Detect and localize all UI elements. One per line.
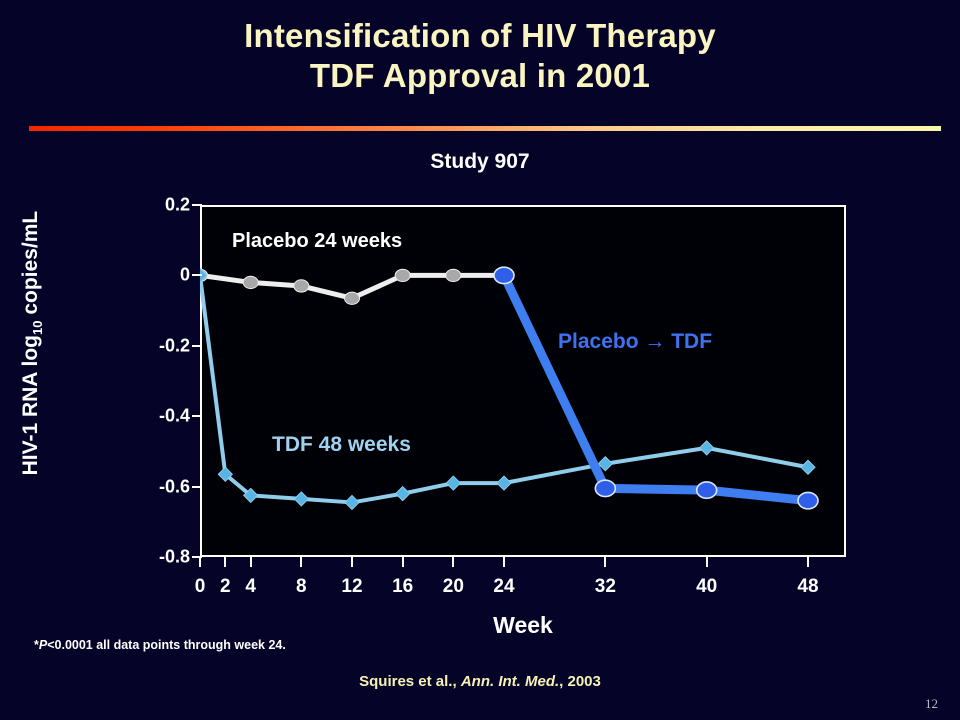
x-axis-tick-mark [503,557,505,567]
footnote-italic: P [39,638,47,652]
slide-canvas: Intensification of HIV Therapy TDF Appro… [0,0,960,720]
data-point-marker [395,269,410,281]
data-point-marker [700,441,714,455]
y-axis-title-sub: 10 [30,321,45,335]
data-point-marker [494,267,514,283]
citation-year: , 2003 [559,673,601,690]
y-axis-tick-mark [192,345,202,347]
x-axis-tick-mark [452,557,454,567]
x-axis-tick-label: 2 [220,576,231,598]
citation-journal: Ann. Int. Med. [461,673,559,690]
citation: Squires et al., Ann. Int. Med., 2003 [0,673,960,690]
series-label-placebo: Placebo 24 weeks [232,230,402,253]
x-axis-tick-mark [224,557,226,567]
y-axis-tick-label: 0.2 [120,195,190,216]
y-axis-tick-mark [192,204,202,206]
series-line-1 [200,275,808,502]
data-point-marker [697,482,717,498]
data-point-marker [345,292,360,304]
x-axis-tick-label: 4 [245,576,256,598]
x-axis-tick-label: 0 [195,576,206,598]
x-axis-tick-mark [807,557,809,567]
data-point-marker [497,476,511,490]
plot-series-layer [200,205,846,557]
x-axis-tick-mark [250,557,252,567]
footnote: *P<0.0001 all data points through week 2… [34,638,286,652]
data-point-marker [801,460,815,474]
y-axis-tick-label: -0.2 [120,335,190,356]
y-axis-title-pre: HIV-1 RNA log [19,335,42,475]
x-axis-ticks: 024812162024324048 [0,565,960,595]
data-point-marker [294,280,309,292]
citation-authors: Squires et al., [359,673,461,690]
data-point-marker [345,495,359,509]
line-chart: 0.20-0.2-0.4-0.6-0.8 024812162024324048 … [0,0,960,720]
x-axis-tick-mark [300,557,302,567]
x-axis-title: Week [200,612,846,639]
x-axis-tick-mark [402,557,404,567]
x-axis-tick-label: 48 [797,576,818,598]
page-number: 12 [925,696,938,712]
y-axis-tick-label: -0.6 [120,476,190,497]
data-point-marker [396,487,410,501]
y-axis-tick-mark [192,486,202,488]
data-point-marker [595,480,615,496]
x-axis-tick-mark [706,557,708,567]
x-axis-tick-mark [199,557,201,567]
y-axis-title: HIV-1 RNA log10 copies/mL [19,173,45,513]
x-axis-tick-label: 8 [296,576,307,598]
y-axis-tick-mark [192,415,202,417]
data-point-marker [294,492,308,506]
data-point-marker [798,492,818,508]
x-axis-tick-mark [604,557,606,567]
data-point-marker [243,276,258,288]
series-line-2 [504,275,808,500]
x-axis-tick-label: 16 [392,576,413,598]
data-point-marker [446,476,460,490]
y-axis-tick-label: -0.4 [120,406,190,427]
y-axis-tick-mark [192,274,202,276]
y-axis-title-post: copies/mL [19,211,42,321]
x-axis-tick-label: 32 [595,576,616,598]
x-axis-tick-mark [351,557,353,567]
series-label-placebo-to-tdf: Placebo → TDF [558,330,712,354]
y-axis-tick-label: 0 [120,265,190,286]
x-axis-tick-label: 12 [341,576,362,598]
y-axis-ticks: 0.20-0.2-0.4-0.6-0.8 [110,0,190,720]
x-axis-tick-label: 20 [443,576,464,598]
footnote-rest: <0.0001 all data points through week 24. [47,638,286,652]
series-label-tdf: TDF 48 weeks [272,433,411,457]
data-point-marker [446,269,461,281]
x-axis-tick-label: 40 [696,576,717,598]
x-axis-tick-label: 24 [493,576,514,598]
